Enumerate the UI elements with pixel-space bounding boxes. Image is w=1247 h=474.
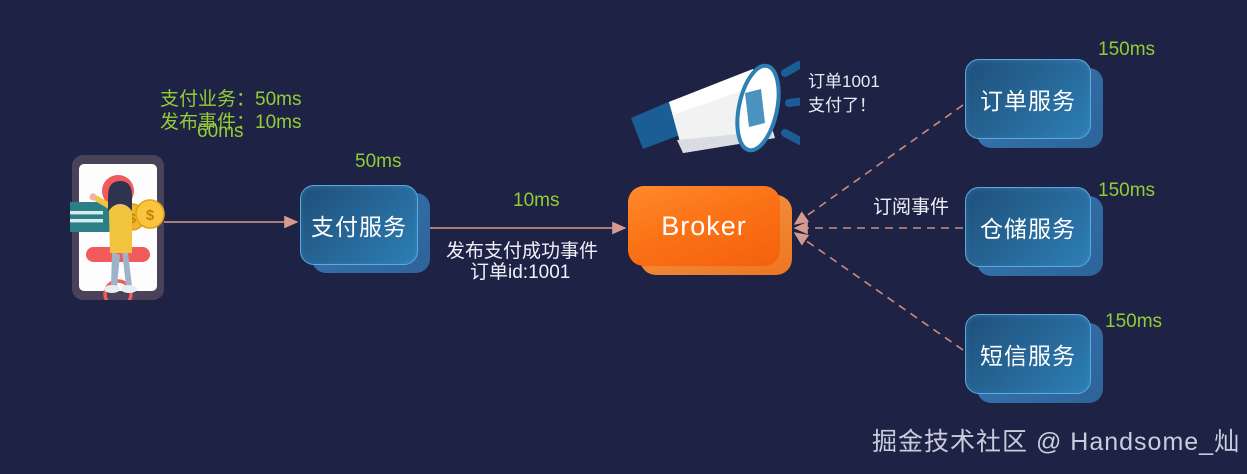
- megaphone-illustration: [625, 45, 800, 170]
- node-order-service[interactable]: 订单服务: [965, 59, 1091, 139]
- node-warehouse-service[interactable]: 仓储服务: [965, 187, 1091, 267]
- publish-latency-label: 10ms: [513, 189, 559, 212]
- warehouse-service-latency: 150ms: [1098, 179, 1155, 202]
- publish-event-line2: 订单id:1001: [470, 261, 570, 284]
- node-payment-service[interactable]: 支付服务: [300, 185, 418, 265]
- broker-label: Broker: [661, 211, 747, 242]
- watermark-credit: 掘金技术社区 @ Handsome_灿: [872, 422, 1240, 458]
- diagram-canvas: $ $ $: [0, 0, 1247, 474]
- megaphone-bubble-line1: 订单1001: [808, 72, 880, 93]
- node-sms-service[interactable]: 短信服务: [965, 314, 1091, 394]
- subscribe-event-label: 订阅事件: [873, 196, 949, 219]
- warehouse-service-label: 仓储服务: [980, 210, 1076, 244]
- mobile-payment-illustration: $ $ $: [70, 155, 166, 300]
- payment-service-latency: 50ms: [355, 150, 401, 173]
- order-service-latency: 150ms: [1098, 38, 1155, 61]
- latency-breakdown-total: 60ms: [197, 120, 243, 143]
- node-broker[interactable]: Broker: [628, 186, 780, 266]
- edge-sms-to-broker: [795, 233, 963, 350]
- sound-wave-icon: [785, 65, 800, 141]
- publish-event-line1: 发布支付成功事件: [446, 240, 598, 263]
- latency-breakdown-line1: 支付业务：50ms: [160, 88, 301, 111]
- payment-service-label: 支付服务: [311, 208, 407, 242]
- sms-service-label: 短信服务: [980, 337, 1076, 371]
- order-service-label: 订单服务: [980, 82, 1076, 116]
- sms-service-latency: 150ms: [1105, 310, 1162, 333]
- svg-text:$: $: [146, 207, 155, 224]
- megaphone-bubble-line2: 支付了！: [808, 96, 876, 117]
